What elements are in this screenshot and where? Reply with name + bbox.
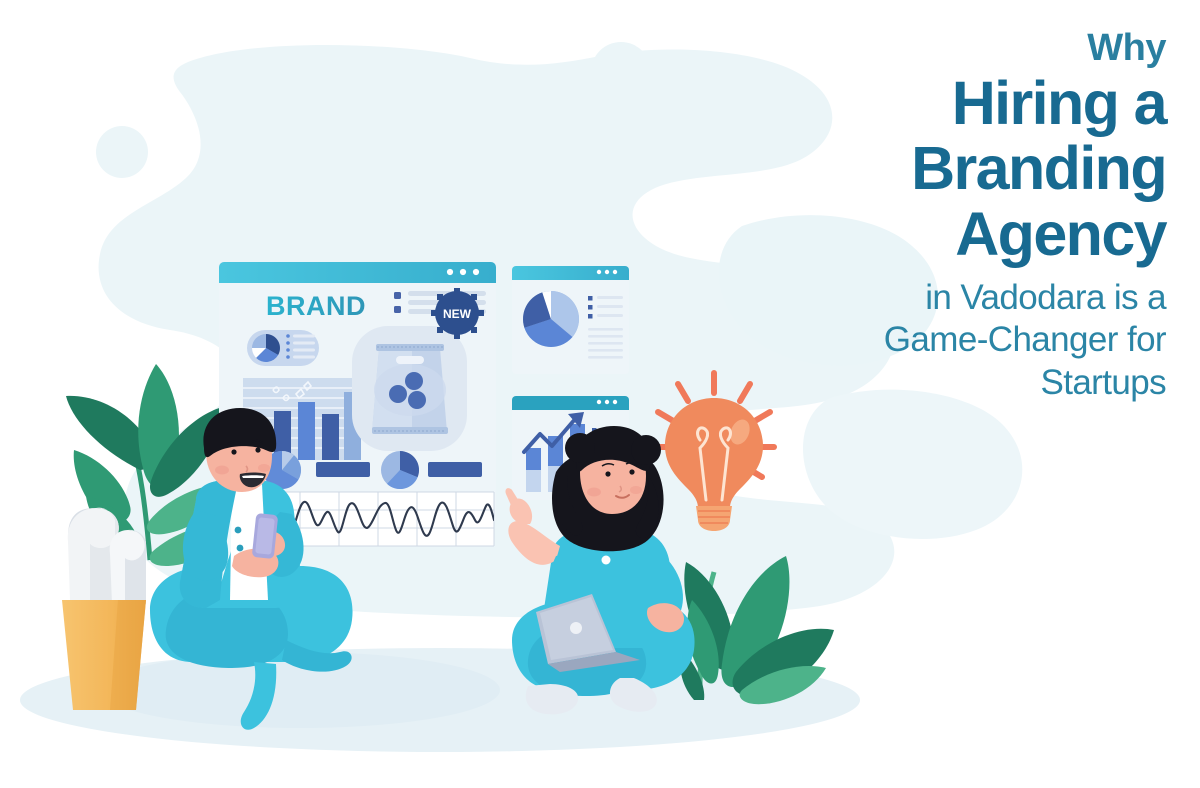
new-badge: NEW <box>431 288 484 339</box>
man-blush-right <box>258 464 270 472</box>
new-badge-text: NEW <box>443 307 472 321</box>
brand-donut-widget <box>247 330 319 366</box>
woman-shoe-left <box>526 684 578 714</box>
headline-kicker: Why <box>746 28 1166 69</box>
woman-hair-bun-left <box>565 433 595 463</box>
bag-label <box>396 356 424 364</box>
woman-eye-right <box>629 469 634 474</box>
headline-block: Why Hiring a Branding Agency in Vadodara… <box>746 28 1166 404</box>
background-blob-dot-2 <box>591 42 651 102</box>
window-dots-pie <box>597 270 617 274</box>
headline-line-2: Branding <box>746 136 1166 201</box>
bag-dot-2 <box>389 385 407 403</box>
window-dots-growth <box>597 400 617 404</box>
headline-subtitle: in Vadodara is a Game-Changer for Startu… <box>746 277 1166 404</box>
man-button-1 <box>235 527 242 534</box>
headline-line-3: Agency <box>746 202 1166 267</box>
brand-title-text: BRAND <box>266 291 366 321</box>
woman-eye-left <box>605 471 610 476</box>
headline-sub-line-2: Game-Changer for <box>746 319 1166 361</box>
page-title: Hiring a Branding Agency <box>746 71 1166 267</box>
bag-dot-1 <box>405 372 423 390</box>
man-blush-left <box>215 466 229 475</box>
woman-top-button <box>602 556 611 565</box>
bar-3 <box>298 402 315 460</box>
footer-bar-left <box>316 462 370 477</box>
basket-with-scrolls <box>62 508 146 710</box>
footer-bar-right <box>428 462 482 477</box>
bag-dot-3 <box>408 391 426 409</box>
man-button-2 <box>237 545 244 552</box>
bar-4 <box>322 414 339 460</box>
pie-chart-panel <box>512 266 629 374</box>
woman-blush-left <box>587 488 601 497</box>
headline-sub-line-1: in Vadodara is a <box>746 277 1166 319</box>
man-eye-left <box>231 449 236 454</box>
woman-hair-bun-right <box>631 435 661 465</box>
laptop-logo <box>570 622 582 634</box>
banner-root: BRAND <box>0 0 1200 788</box>
headline-sub-line-3: Startups <box>746 362 1166 404</box>
man-eye-right <box>255 447 260 452</box>
headline-line-1: Hiring a <box>746 71 1166 136</box>
window-dots-main <box>447 269 479 275</box>
woman-blush-right <box>630 486 642 494</box>
background-blob-dot-1 <box>96 126 148 178</box>
pie-panel-chart <box>523 291 579 347</box>
